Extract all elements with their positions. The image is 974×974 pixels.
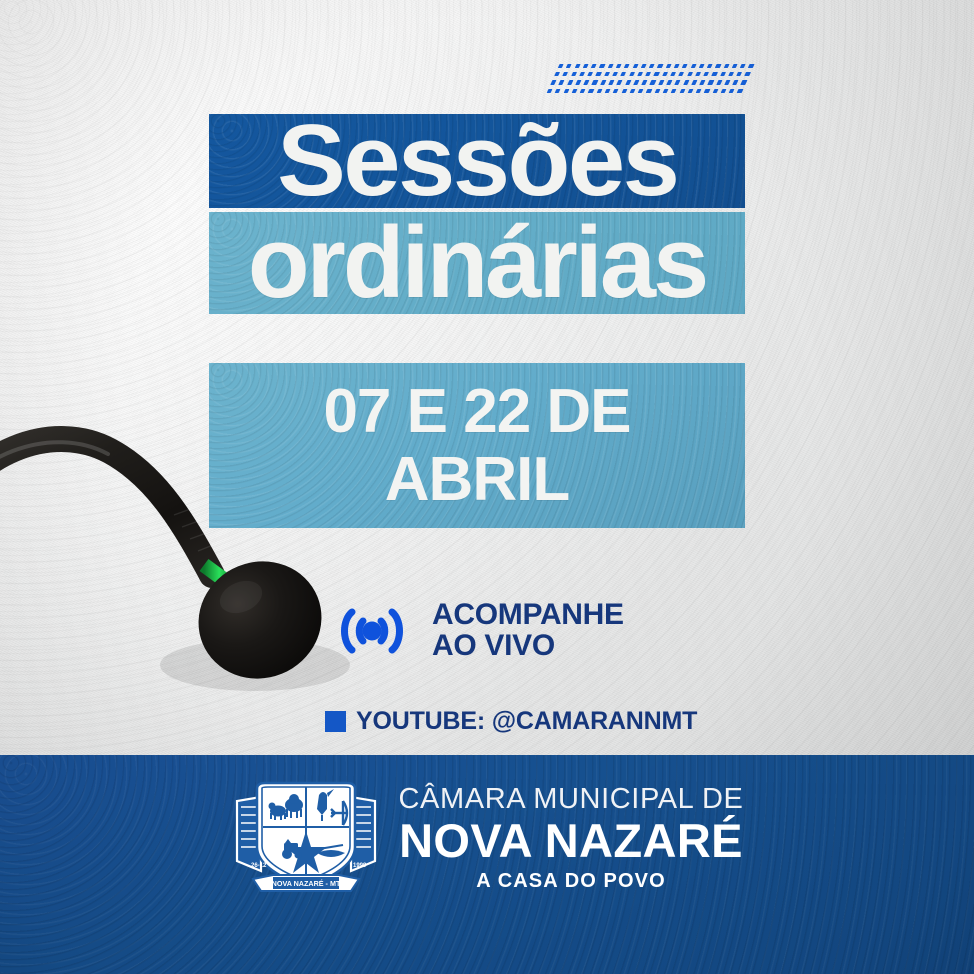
dot xyxy=(688,89,694,93)
dot xyxy=(554,72,560,76)
dot xyxy=(682,64,688,68)
live-callout: ACOMPANHE AO VIVO xyxy=(330,600,624,662)
coat-of-arms-icon: 26-12 1999 NOVA NAZARÉ - MT xyxy=(231,775,381,900)
dot xyxy=(711,72,717,76)
dot xyxy=(550,80,556,84)
dot xyxy=(574,64,580,68)
dot xyxy=(653,72,659,76)
dot xyxy=(657,64,663,68)
dot xyxy=(566,64,572,68)
dot xyxy=(616,64,622,68)
dot xyxy=(721,89,727,93)
dot xyxy=(649,64,655,68)
dot xyxy=(728,72,734,76)
dot xyxy=(745,72,751,76)
dot-row xyxy=(553,72,762,79)
dot xyxy=(558,64,564,68)
live-line-2: AO VIVO xyxy=(432,631,624,662)
square-bullet-icon xyxy=(325,711,346,732)
footer-bar: 26-12 1999 NOVA NAZARÉ - MT CÂMARA MUNIC… xyxy=(0,755,974,974)
live-text: ACOMPANHE AO VIVO xyxy=(432,600,624,662)
crest-banner-text: NOVA NAZARÉ - MT xyxy=(271,879,340,888)
poster-canvas: Sessões ordinárias 07 E 22 DE ABRIL ACOM… xyxy=(0,0,974,974)
dot xyxy=(617,80,623,84)
dot xyxy=(547,89,553,93)
dot xyxy=(695,72,701,76)
dot xyxy=(679,89,685,93)
dot xyxy=(665,64,671,68)
dot xyxy=(724,80,730,84)
dot xyxy=(624,64,630,68)
social-handle-label: YOUTUBE: @CAMARANNMT xyxy=(356,707,697,736)
dot xyxy=(580,89,586,93)
headline-band-secondary: ordinárias xyxy=(209,212,745,314)
dot xyxy=(630,89,636,93)
dot xyxy=(567,80,573,84)
dot xyxy=(625,80,631,84)
dot xyxy=(575,80,581,84)
dot xyxy=(740,64,746,68)
dot xyxy=(579,72,585,76)
dot xyxy=(658,80,664,84)
dot xyxy=(662,72,668,76)
dot-row xyxy=(556,64,765,71)
dot xyxy=(675,80,681,84)
dot xyxy=(654,89,660,93)
crest-date-right: 1999 xyxy=(353,863,367,869)
date-line-1: 07 E 22 DE xyxy=(323,380,630,443)
dot xyxy=(723,64,729,68)
dot xyxy=(704,89,710,93)
dot xyxy=(596,89,602,93)
dot xyxy=(650,80,656,84)
dot xyxy=(720,72,726,76)
dot xyxy=(572,89,578,93)
headline-line-2: ordinárias xyxy=(248,217,706,310)
dot xyxy=(690,64,696,68)
date-line-2: ABRIL xyxy=(385,448,569,511)
dot xyxy=(592,80,598,84)
dot xyxy=(629,72,635,76)
dot xyxy=(620,72,626,76)
organization-block: CÂMARA MUNICIPAL DE NOVA NAZARÉ A CASA D… xyxy=(399,785,744,891)
dot xyxy=(748,64,754,68)
live-line-1: ACOMPANHE xyxy=(432,600,624,631)
dot xyxy=(583,64,589,68)
dot xyxy=(712,89,718,93)
dot xyxy=(687,72,693,76)
dot xyxy=(699,80,705,84)
dot xyxy=(678,72,684,76)
dot xyxy=(674,64,680,68)
dot xyxy=(646,89,652,93)
dot xyxy=(696,89,702,93)
dot xyxy=(666,80,672,84)
dot xyxy=(613,89,619,93)
dot xyxy=(642,80,648,84)
dot xyxy=(733,80,739,84)
dot-row xyxy=(546,89,755,96)
dot xyxy=(621,89,627,93)
dot xyxy=(741,80,747,84)
dot xyxy=(698,64,704,68)
org-line-1: CÂMARA MUNICIPAL DE xyxy=(399,785,744,814)
dot-grid-icon xyxy=(544,64,765,98)
dot xyxy=(563,89,569,93)
dot xyxy=(600,80,606,84)
headline-line-1: Sessões xyxy=(277,115,677,208)
dot xyxy=(604,72,610,76)
dot xyxy=(612,72,618,76)
dot xyxy=(605,89,611,93)
dot xyxy=(595,72,601,76)
dot xyxy=(645,72,651,76)
date-band: 07 E 22 DE ABRIL xyxy=(209,363,745,528)
dot xyxy=(607,64,613,68)
dot xyxy=(588,89,594,93)
dot xyxy=(559,80,565,84)
headline-band-primary: Sessões xyxy=(209,114,745,208)
dot xyxy=(599,64,605,68)
dot xyxy=(663,89,669,93)
dot xyxy=(555,89,561,93)
dot xyxy=(732,64,738,68)
dot xyxy=(584,80,590,84)
dot xyxy=(591,64,597,68)
dot xyxy=(737,89,743,93)
dot xyxy=(671,89,677,93)
dot xyxy=(703,72,709,76)
dot xyxy=(729,89,735,93)
dot xyxy=(608,80,614,84)
dot xyxy=(633,80,639,84)
dot xyxy=(562,72,568,76)
dot xyxy=(670,72,676,76)
dot xyxy=(637,72,643,76)
dot xyxy=(632,64,638,68)
crest-date-left: 26-12 xyxy=(251,863,267,869)
dot xyxy=(691,80,697,84)
social-handle[interactable]: YOUTUBE: @CAMARANNMT xyxy=(325,707,697,736)
dot xyxy=(716,80,722,84)
dot xyxy=(683,80,689,84)
dot xyxy=(736,72,742,76)
dot xyxy=(715,64,721,68)
dot xyxy=(571,72,577,76)
dot xyxy=(708,80,714,84)
org-line-3: A CASA DO POVO xyxy=(476,871,666,891)
dot xyxy=(638,89,644,93)
dot xyxy=(587,72,593,76)
dot xyxy=(641,64,647,68)
dot-row xyxy=(549,80,758,87)
org-line-2: NOVA NAZARÉ xyxy=(399,817,743,864)
dot xyxy=(707,64,713,68)
broadcast-live-icon xyxy=(330,600,414,662)
